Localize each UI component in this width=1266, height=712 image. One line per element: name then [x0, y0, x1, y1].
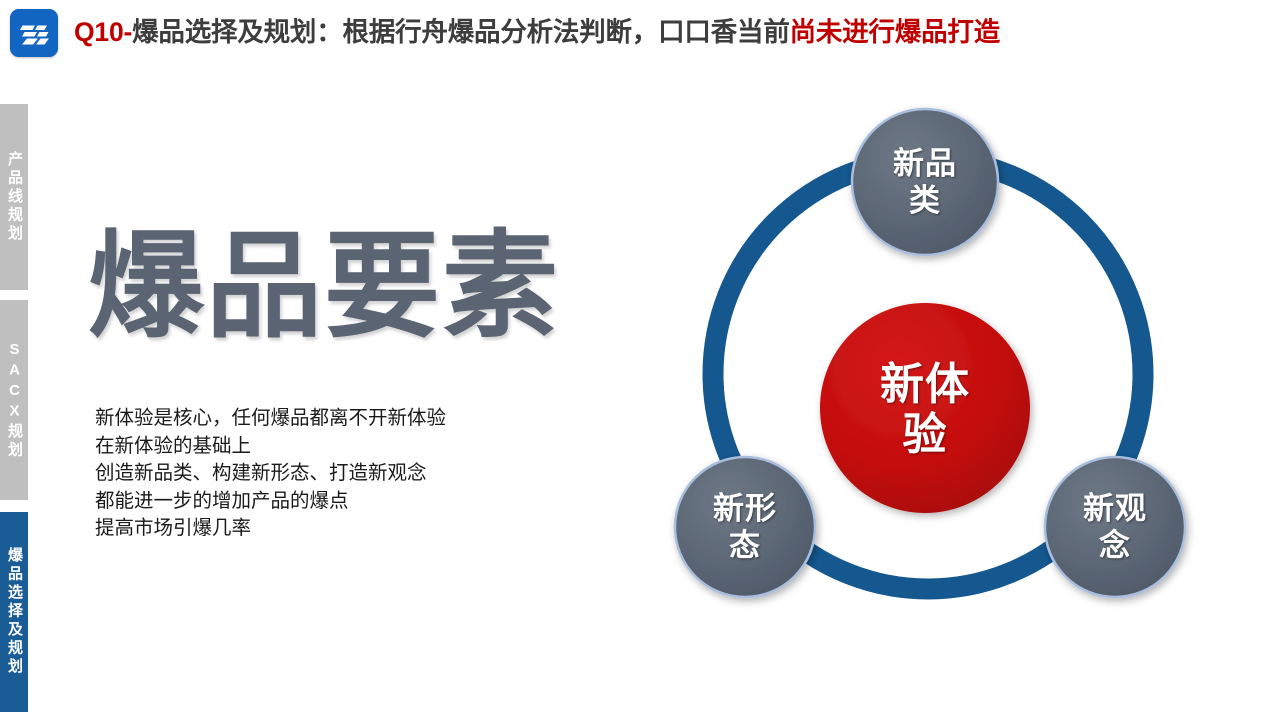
- sidebar-item-sacx-planning[interactable]: SACX规划: [0, 300, 28, 500]
- main-heading: 爆品要素: [88, 226, 560, 348]
- sidebar-item-label: 产品线规划: [0, 151, 28, 244]
- sidebar-item-hit-product-selection[interactable]: 爆品选择及规划: [0, 512, 28, 712]
- title-main: 爆品选择及规划：根据行舟爆品分析法判断，口口香当前: [132, 17, 790, 47]
- title-suffix: 尚未进行爆品打造: [790, 17, 1000, 47]
- diagram-center-hub: [820, 303, 1030, 513]
- hub-and-spoke-diagram: 新品 类 新观 念 新形 态 新体 验: [630, 86, 1230, 656]
- slide-header: Q10-爆品选择及规划：根据行舟爆品分析法判断，口口香当前尚未进行爆品打造: [0, 0, 1266, 66]
- diagram-node-bottom-right: [1045, 457, 1185, 597]
- page-title: Q10-爆品选择及规划：根据行舟爆品分析法判断，口口香当前尚未进行爆品打造: [74, 11, 1259, 53]
- title-prefix: Q10-: [74, 17, 132, 47]
- diagram-node-bottom-left: [675, 457, 815, 597]
- sidebar-item-product-line-planning[interactable]: 产品线规划: [0, 104, 28, 290]
- slide-root: Q10-爆品选择及规划：根据行舟爆品分析法判断，口口香当前尚未进行爆品打造 产品…: [0, 0, 1266, 712]
- diagram-node-top: [852, 109, 998, 255]
- body-paragraph: 新体验是核心，任何爆品都离不开新体验 在新体验的基础上 创造新品类、构建新形态、…: [95, 404, 446, 542]
- sidebar-rail: 产品线规划 SACX规划 爆品选择及规划: [0, 0, 28, 712]
- sidebar-item-label: SACX规划: [0, 341, 28, 460]
- sidebar-item-label: 爆品选择及规划: [0, 547, 28, 677]
